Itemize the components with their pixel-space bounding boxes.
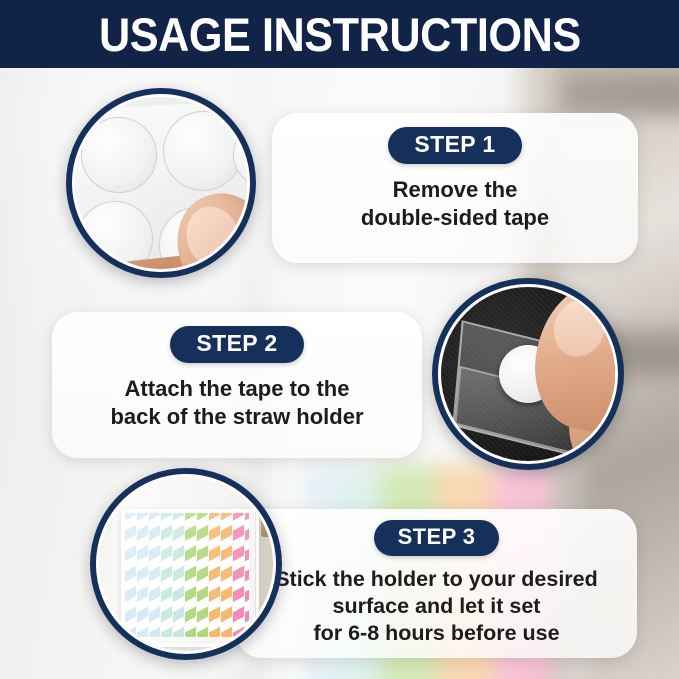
- step-1-photo: [66, 88, 256, 278]
- step-3-text: Stick the holder to your desired surface…: [275, 566, 598, 647]
- step-1-badge: STEP 1: [388, 127, 521, 164]
- hinge: [261, 617, 275, 643]
- tape-on-holder-photo: [441, 287, 615, 461]
- adhesive-dot: [81, 117, 157, 193]
- usage-instructions-infographic: USAGE INSTRUCTIONS STEP 1 Remove the dou…: [0, 0, 679, 679]
- step-3-panel: STEP 3 Stick the holder to your desired …: [236, 509, 637, 658]
- adhesive-dot: [163, 111, 243, 191]
- step-2-panel: STEP 2 Attach the tape to the back of th…: [52, 312, 422, 458]
- step-1-panel: STEP 1 Remove the double-sided tape: [272, 113, 638, 263]
- mounted-holder-photo: [99, 477, 273, 651]
- step-2-text: Attach the tape to the back of the straw…: [110, 375, 363, 431]
- header-banner: USAGE INSTRUCTIONS: [0, 0, 679, 68]
- step-2-badge: STEP 2: [170, 326, 303, 363]
- fingernail: [179, 200, 248, 272]
- acrylic-holder: [121, 509, 259, 647]
- step-3-badge: STEP 3: [374, 520, 500, 556]
- hinge: [261, 511, 275, 537]
- step-1-text: Remove the double-sided tape: [361, 176, 549, 232]
- adhesive-dots-photo: [75, 97, 247, 269]
- page-title: USAGE INSTRUCTIONS: [99, 11, 581, 58]
- step-3-photo: [90, 468, 282, 660]
- step-2-photo: [432, 278, 624, 470]
